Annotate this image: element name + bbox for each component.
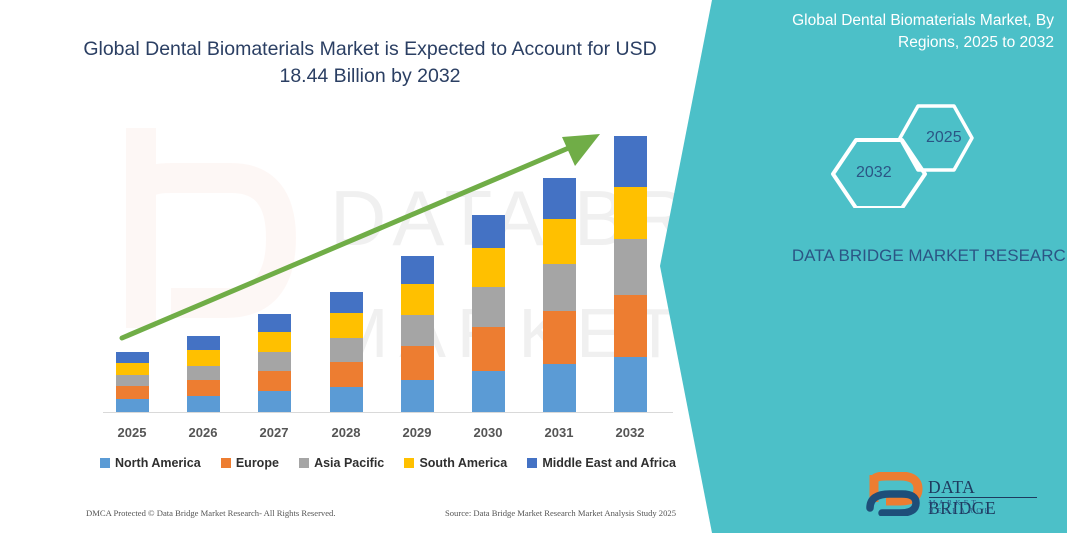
bar-segment xyxy=(543,178,576,219)
x-label-2031: 2031 xyxy=(524,425,594,440)
x-label-2030: 2030 xyxy=(453,425,523,440)
bar-segment xyxy=(116,363,149,375)
footer: DMCA Protected © Data Bridge Market Rese… xyxy=(86,508,676,518)
bar-segment xyxy=(614,239,647,295)
bar-2029[interactable] xyxy=(401,256,434,412)
bar-segment xyxy=(187,366,220,380)
bar-segment xyxy=(472,287,505,327)
bar-segment xyxy=(472,248,505,287)
legend-swatch-icon xyxy=(527,458,537,468)
bridge-logo-icon xyxy=(866,472,924,516)
legend-label: Europe xyxy=(236,456,279,470)
logo-divider xyxy=(929,497,1037,498)
bar-segment xyxy=(614,357,647,412)
bar-segment xyxy=(401,380,434,412)
bar-segment xyxy=(330,292,363,313)
hexagon-label-2032: 2032 xyxy=(856,164,892,182)
legend-swatch-icon xyxy=(100,458,110,468)
bar-2026[interactable] xyxy=(187,336,220,412)
bar-segment xyxy=(472,371,505,412)
bar-segment xyxy=(543,364,576,412)
legend-item[interactable]: North America xyxy=(100,456,201,470)
legend-item[interactable]: South America xyxy=(404,456,507,470)
bar-segment xyxy=(116,352,149,363)
bar-segment xyxy=(187,396,220,412)
legend-item[interactable]: Middle East and Africa xyxy=(527,456,676,470)
bar-segment xyxy=(614,187,647,239)
bar-segment xyxy=(401,346,434,380)
legend-item[interactable]: Europe xyxy=(221,456,279,470)
bar-segment xyxy=(543,264,576,311)
x-label-2028: 2028 xyxy=(311,425,381,440)
panel-brand-text: DATA BRIDGE MARKET RESEARCH xyxy=(790,244,1067,269)
bar-segment xyxy=(258,371,291,391)
footer-copyright: DMCA Protected © Data Bridge Market Rese… xyxy=(86,508,336,518)
panel-title: Global Dental Biomaterials Market, By Re… xyxy=(742,10,1054,55)
bar-segment xyxy=(116,399,149,412)
bar-2031[interactable] xyxy=(543,178,576,412)
bar-segment xyxy=(116,375,149,386)
bar-segment xyxy=(187,350,220,366)
chart-legend: North AmericaEuropeAsia PacificSouth Ame… xyxy=(100,456,676,470)
bar-segment xyxy=(330,387,363,412)
footer-source: Source: Data Bridge Market Research Mark… xyxy=(445,508,676,518)
bar-segment xyxy=(614,295,647,357)
legend-label: North America xyxy=(115,456,201,470)
bar-segment xyxy=(543,311,576,364)
hexagon-label-2025: 2025 xyxy=(926,129,962,147)
x-label-2032: 2032 xyxy=(595,425,665,440)
x-label-2025: 2025 xyxy=(97,425,167,440)
legend-swatch-icon xyxy=(221,458,231,468)
legend-label: Middle East and Africa xyxy=(542,456,676,470)
legend-swatch-icon xyxy=(404,458,414,468)
bar-segment xyxy=(258,314,291,332)
bar-segment xyxy=(543,219,576,264)
logo-sub-text: MARKET RESEARCH xyxy=(929,499,1041,515)
bar-segment xyxy=(614,136,647,187)
bar-segment xyxy=(330,338,363,362)
brand-logo: DATA BRIDGE MARKET RESEARCH xyxy=(866,472,1041,518)
hexagon-shapes-icon xyxy=(820,98,1010,208)
legend-label: South America xyxy=(419,456,507,470)
bar-2028[interactable] xyxy=(330,292,363,412)
bar-2030[interactable] xyxy=(472,215,505,412)
bar-segment xyxy=(116,386,149,399)
legend-label: Asia Pacific xyxy=(314,456,384,470)
bar-segment xyxy=(401,315,434,346)
bar-segment xyxy=(187,380,220,396)
bar-segment xyxy=(401,256,434,284)
infographic-root: DATA BRIDGE MARKET RESEARCH Global Denta… xyxy=(0,0,1067,533)
bar-segment xyxy=(330,313,363,338)
x-axis-line xyxy=(103,412,673,413)
bar-segment xyxy=(330,362,363,387)
bar-segment xyxy=(258,332,291,352)
x-label-2027: 2027 xyxy=(239,425,309,440)
bar-2032[interactable] xyxy=(614,136,647,412)
x-label-2029: 2029 xyxy=(382,425,452,440)
bar-segment xyxy=(258,352,291,371)
bar-segment xyxy=(472,327,505,371)
hexagon-group: 2025 2032 xyxy=(820,98,1010,208)
bar-segment xyxy=(401,284,434,315)
bar-2025[interactable] xyxy=(116,352,149,412)
bar-2027[interactable] xyxy=(258,314,291,412)
bar-segment xyxy=(472,215,505,248)
chart-area: 20252026202720282029203020312032 xyxy=(0,0,700,533)
x-label-2026: 2026 xyxy=(168,425,238,440)
bar-segment xyxy=(258,391,291,412)
legend-swatch-icon xyxy=(299,458,309,468)
legend-item[interactable]: Asia Pacific xyxy=(299,456,384,470)
bar-segment xyxy=(187,336,220,350)
